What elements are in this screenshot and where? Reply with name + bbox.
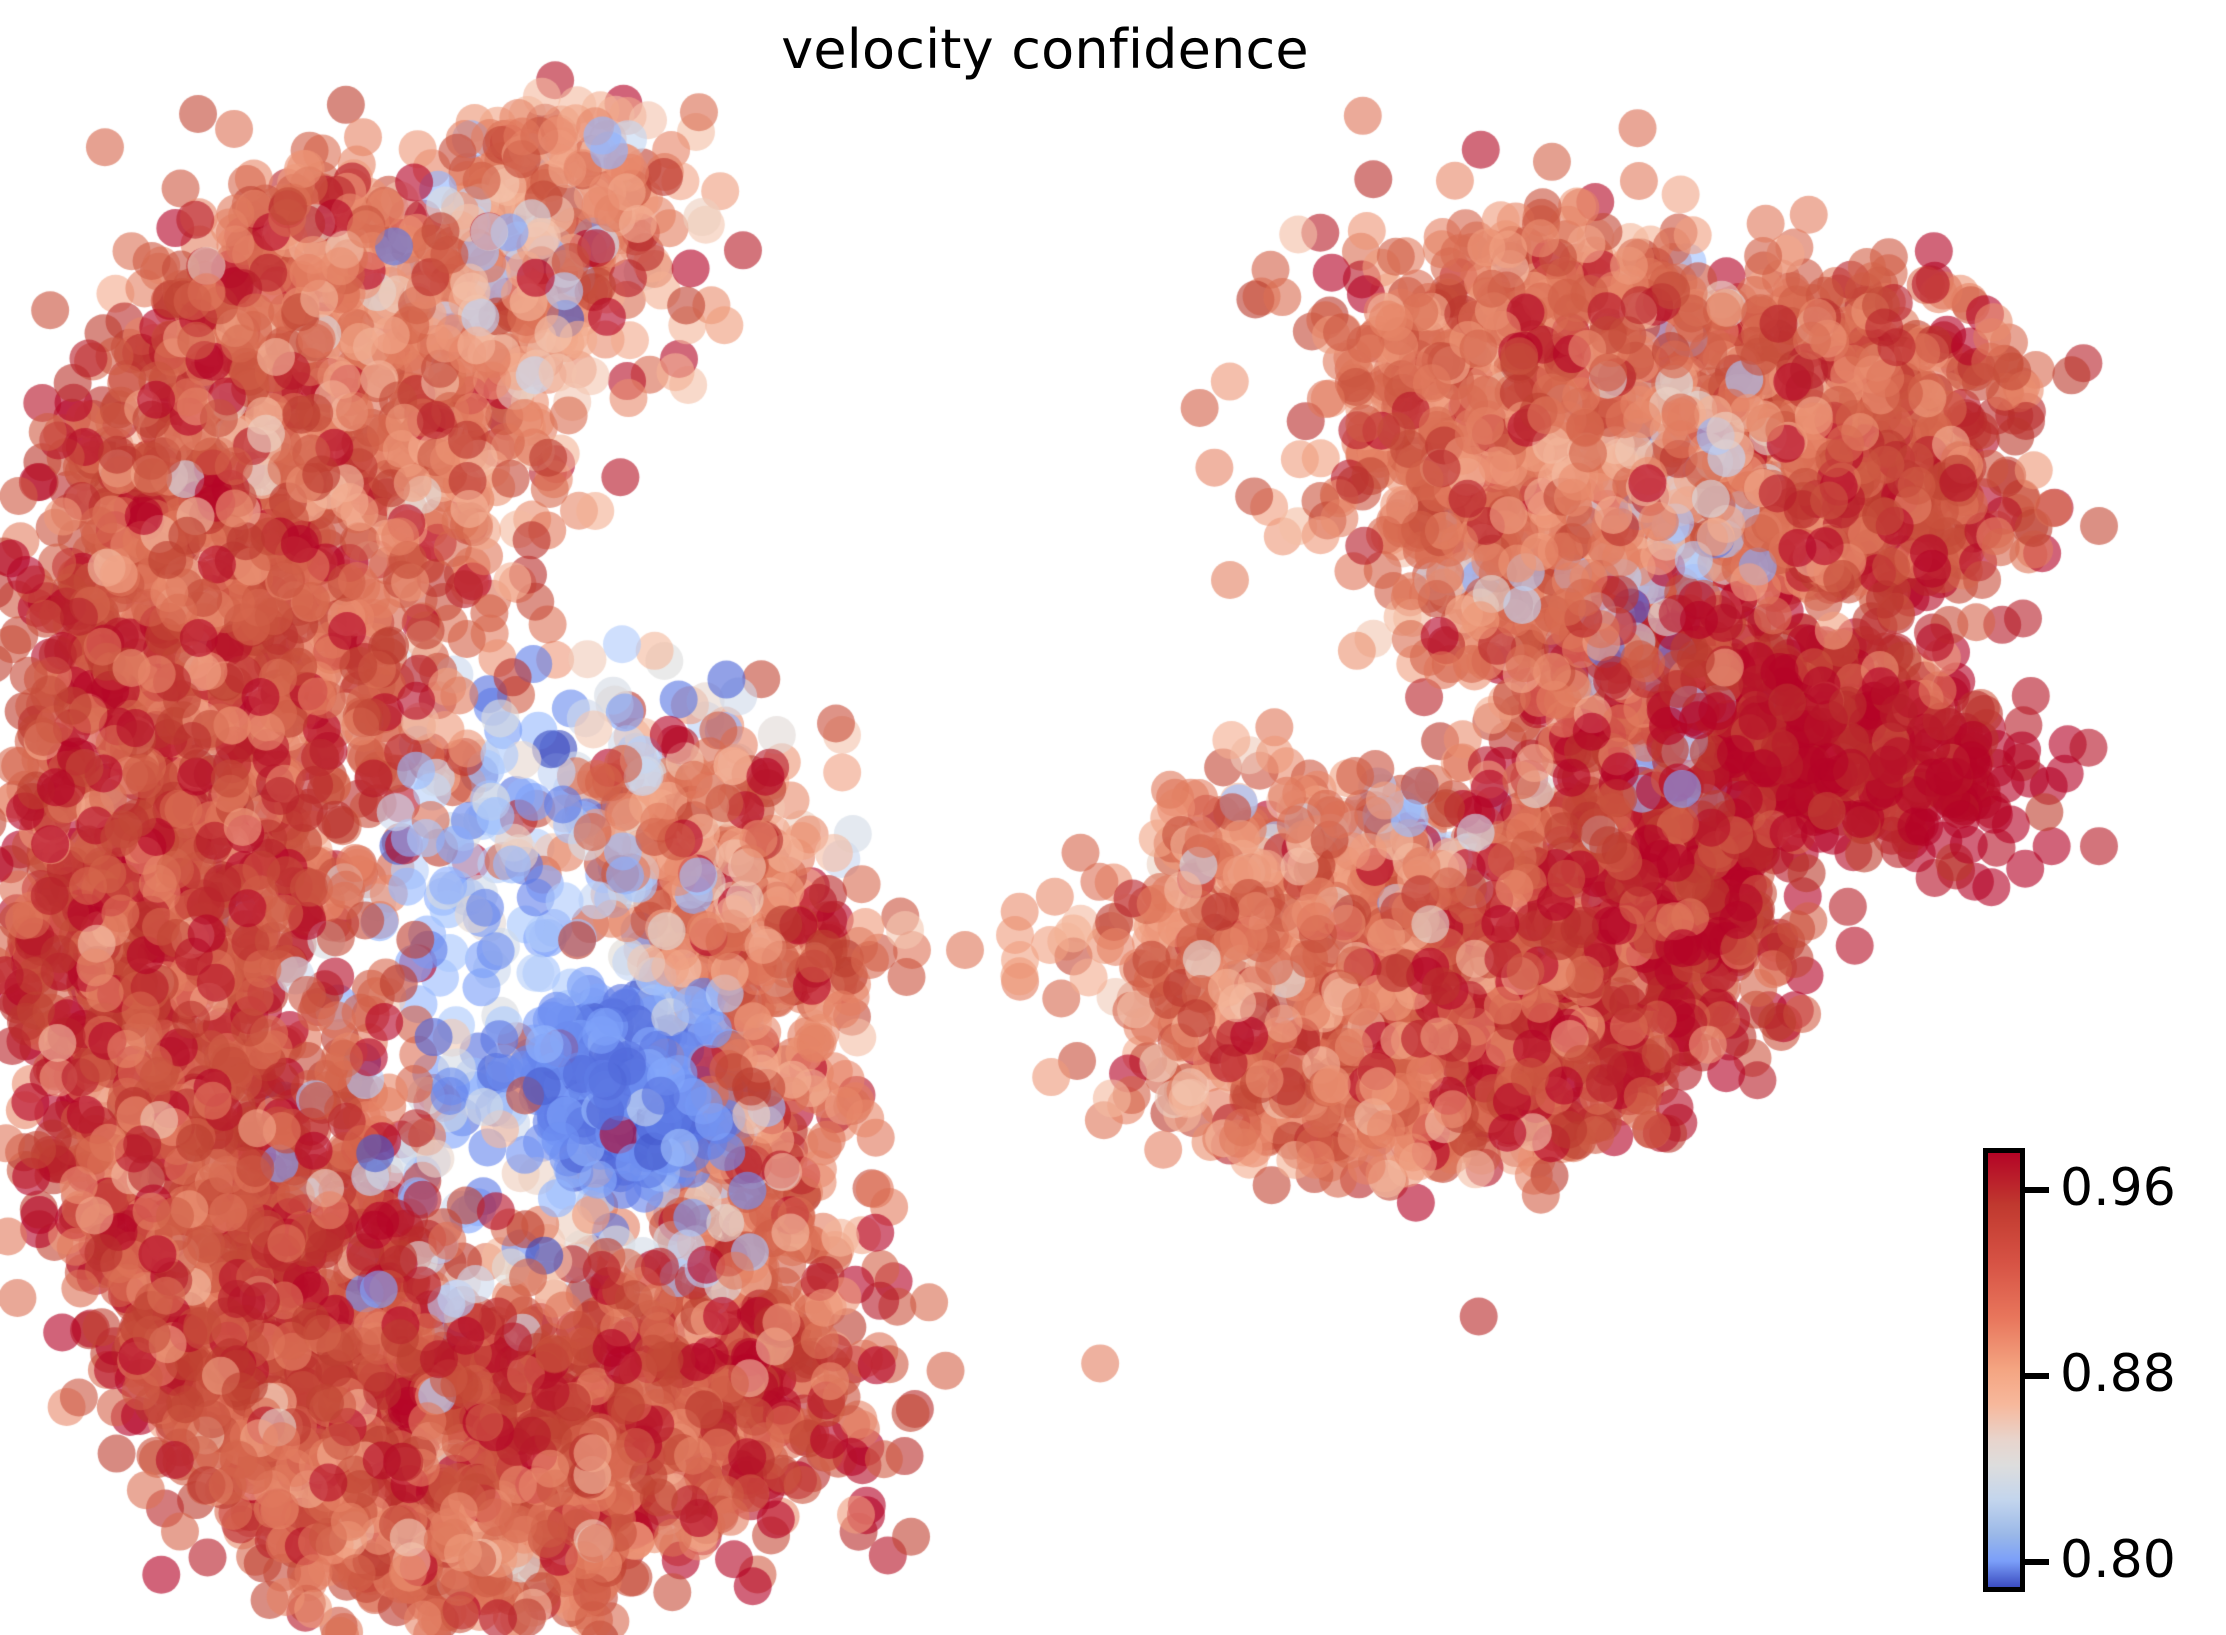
colorbar-gradient: [1983, 1148, 2025, 1592]
colorbar-tick-1: [2025, 1373, 2049, 1379]
colorbar-tick-label-0: 0.96: [2060, 1162, 2176, 1214]
colorbar-tick-0: [2025, 1187, 2049, 1193]
colorbar-tick-2: [2025, 1559, 2049, 1565]
figure-canvas: velocity confidence 0.96 0.88 0.80: [0, 0, 2226, 1635]
colorbar-tick-label-2: 0.80: [2060, 1534, 2176, 1586]
scatter-plot: [0, 0, 2226, 1635]
colorbar-tick-label-1: 0.88: [2060, 1348, 2176, 1400]
colorbar[interactable]: 0.96 0.88 0.80: [1980, 1145, 2226, 1597]
